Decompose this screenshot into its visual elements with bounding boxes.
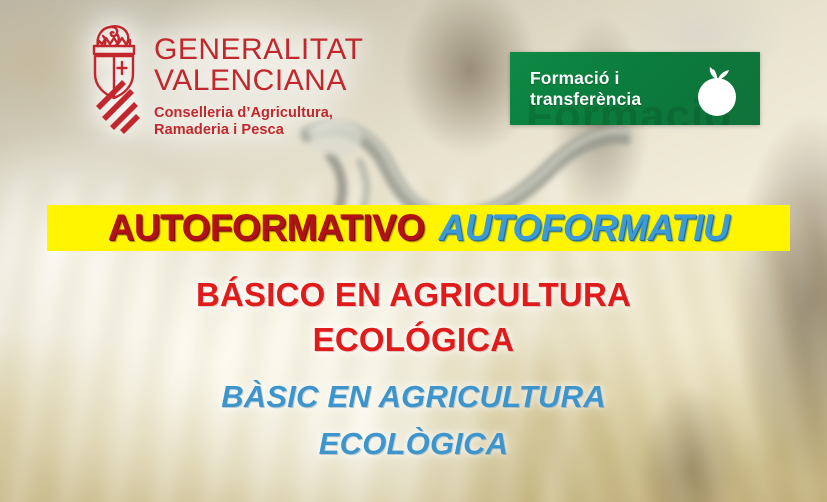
subtitle-valencian-line2: ECOLÒGICA bbox=[0, 420, 827, 467]
logo-department-line1: Conselleria d’Agricultura, bbox=[154, 105, 363, 122]
subtitle-valencian: BÀSIC EN AGRICULTURA ECOLÒGICA bbox=[0, 373, 827, 467]
logo-wordmark: GENERALITAT VALENCIANA Conselleria d’Agr… bbox=[154, 22, 363, 139]
subtitle-spanish-line2: ECOLÓGICA bbox=[0, 317, 827, 362]
logo-department: Conselleria d’Agricultura, Ramaderia i P… bbox=[154, 105, 363, 139]
title-spanish: AUTOFORMATIVO bbox=[108, 207, 425, 249]
white-orange-fruit-icon bbox=[691, 61, 743, 117]
logo-line-generalitat: GENERALITAT bbox=[154, 34, 363, 65]
badge-label: Formació i transferència bbox=[530, 68, 641, 110]
subtitle-spanish: BÁSICO EN AGRICULTURA ECOLÓGICA bbox=[0, 272, 827, 362]
badge-label-line1: Formació i bbox=[530, 68, 641, 89]
logo-line-valenciana: VALENCIANA bbox=[154, 65, 363, 96]
logo-department-line2: Ramaderia i Pesca bbox=[154, 122, 363, 139]
title-valencian: AUTOFORMATIU bbox=[439, 207, 730, 249]
course-title-band: AUTOFORMATIVO AUTOFORMATIU bbox=[47, 205, 790, 251]
subtitle-valencian-line1: BÀSIC EN AGRICULTURA bbox=[0, 373, 827, 420]
badge-label-line2: transferència bbox=[530, 89, 641, 110]
poster-root: GENERALITAT VALENCIANA Conselleria d’Agr… bbox=[0, 0, 827, 502]
subtitle-spanish-line1: BÁSICO EN AGRICULTURA bbox=[0, 272, 827, 317]
generalitat-valenciana-logo: GENERALITAT VALENCIANA Conselleria d’Agr… bbox=[84, 22, 363, 139]
formacio-i-transferencia-badge: Formació Formació i transferència bbox=[510, 52, 760, 125]
valencian-coat-of-arms-icon bbox=[84, 22, 144, 134]
